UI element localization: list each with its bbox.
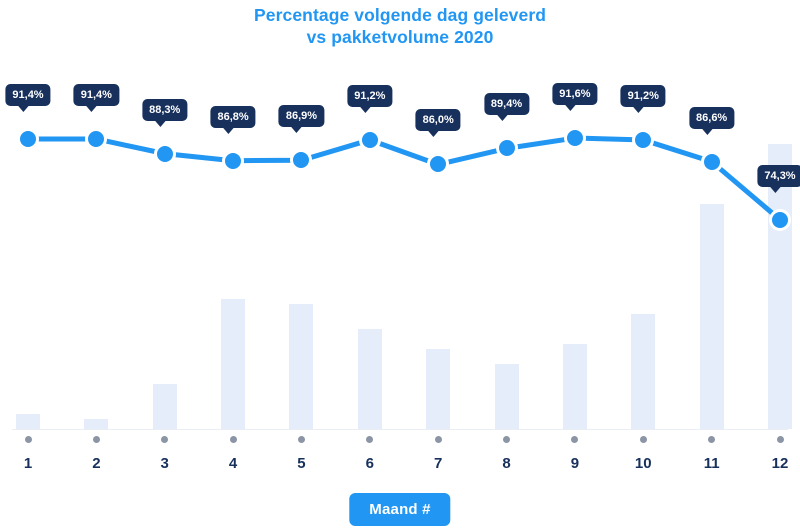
- axis-dot: [93, 436, 100, 443]
- data-label: 86,6%: [689, 107, 734, 129]
- data-point[interactable]: [701, 151, 723, 173]
- data-point[interactable]: [85, 128, 107, 150]
- data-label: 86,0%: [416, 109, 461, 131]
- data-point[interactable]: [222, 150, 244, 172]
- x-axis-label: 3: [161, 455, 169, 472]
- data-point[interactable]: [427, 153, 449, 175]
- chart-title-line-2: vs pakketvolume 2020: [0, 26, 800, 48]
- axis-dot: [435, 436, 442, 443]
- data-label: 86,8%: [210, 106, 255, 128]
- axis-dot: [25, 436, 32, 443]
- data-point[interactable]: [290, 149, 312, 171]
- data-point[interactable]: [496, 137, 518, 159]
- chart-title-line-1: Percentage volgende dag geleverd: [0, 4, 800, 26]
- chart-title: Percentage volgende dag geleverd vs pakk…: [0, 4, 800, 48]
- axis-dot: [161, 436, 168, 443]
- axis-dot: [571, 436, 578, 443]
- data-label: 88,3%: [142, 99, 187, 121]
- x-axis-title-pill: Maand #: [349, 493, 450, 526]
- data-point[interactable]: [17, 128, 39, 150]
- axis-dot: [230, 436, 237, 443]
- x-axis-label: 6: [366, 455, 374, 472]
- data-label: 91,4%: [74, 84, 119, 106]
- data-label: 89,4%: [484, 93, 529, 115]
- x-axis-label: 5: [297, 455, 305, 472]
- axis-dot: [503, 436, 510, 443]
- plot-area: 91,4%91,4%88,3%86,8%86,9%91,2%86,0%89,4%…: [0, 60, 800, 435]
- x-axis-label: 7: [434, 455, 442, 472]
- x-axis-label: 11: [704, 455, 720, 472]
- data-point[interactable]: [359, 129, 381, 151]
- data-label: 91,6%: [552, 83, 597, 105]
- axis-dot: [366, 436, 373, 443]
- axis-dot: [777, 436, 784, 443]
- data-point[interactable]: [632, 129, 654, 151]
- x-axis-label: 8: [502, 455, 510, 472]
- data-label: 91,2%: [621, 85, 666, 107]
- x-axis-label: 10: [635, 455, 652, 472]
- data-label: 86,9%: [279, 105, 324, 127]
- line-series-path: [0, 60, 800, 435]
- data-label: 74,3%: [757, 165, 800, 187]
- data-label: 91,2%: [347, 85, 392, 107]
- axis-dot: [640, 436, 647, 443]
- x-axis-label: 12: [772, 455, 789, 472]
- data-point[interactable]: [564, 127, 586, 149]
- x-axis-label: 2: [92, 455, 100, 472]
- x-axis-label: 4: [229, 455, 237, 472]
- data-label: 91,4%: [5, 84, 50, 106]
- axis-dot: [708, 436, 715, 443]
- data-point[interactable]: [769, 209, 791, 231]
- chart-container: Percentage volgende dag geleverd vs pakk…: [0, 0, 800, 532]
- x-axis-label: 1: [24, 455, 32, 472]
- data-point[interactable]: [154, 143, 176, 165]
- axis-dot: [298, 436, 305, 443]
- x-axis-label: 9: [571, 455, 579, 472]
